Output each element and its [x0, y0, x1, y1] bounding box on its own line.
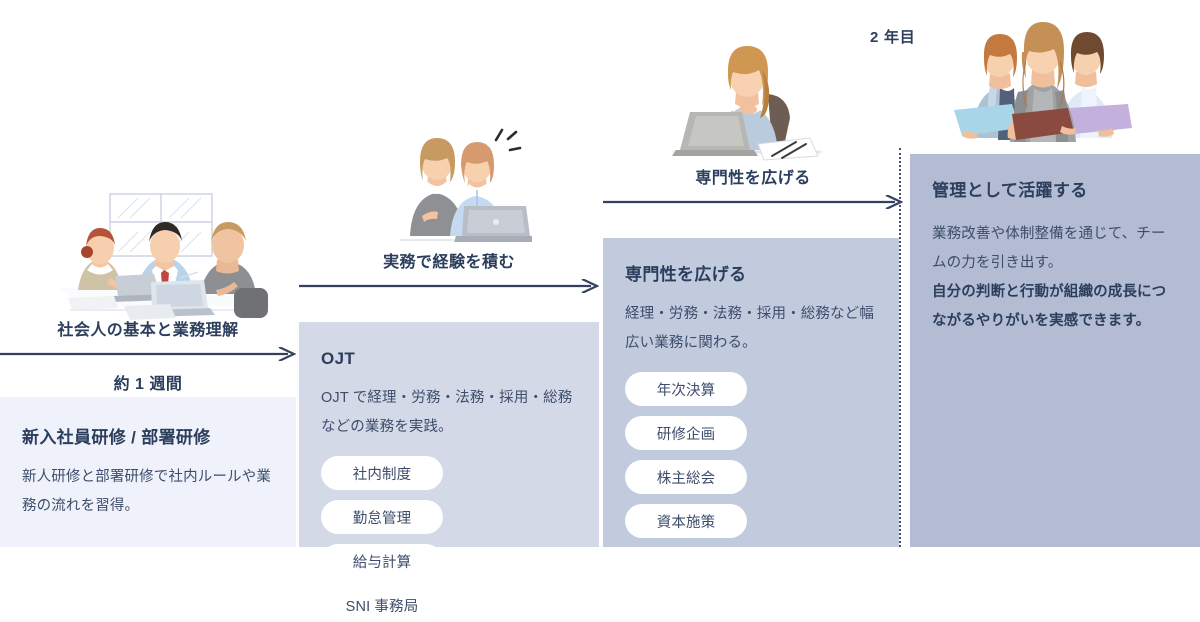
arrow-label-top: 実務で経験を積む — [299, 248, 599, 272]
stage-chip[interactable]: SNI 事務局 — [321, 588, 443, 622]
stage-chip[interactable]: 資本施策 — [625, 504, 747, 538]
illustration-pair — [392, 120, 532, 242]
stage-description: OJT で経理・労務・法務・採用・総務などの業務を実践。 — [321, 384, 577, 442]
stage-description: 経理・労務・法務・採用・総務など幅広い業務に関わる。 — [625, 300, 877, 358]
stage-chip[interactable]: 研修企画 — [625, 416, 747, 450]
stage-title: 管理として活躍する — [932, 180, 1178, 202]
stage-title: OJT — [321, 348, 577, 370]
stage-description: 業務改善や体制整備を通じて、チームの力を引き出す。 — [932, 220, 1178, 278]
career-path-diagram: 新入社員研修 / 部署研修 新人研修と部署研修で社内ルールや業務の流れを習得。 … — [0, 0, 1200, 547]
stage-chip[interactable]: 社内制度 — [321, 456, 443, 490]
stage-chip-list: 年次決算 研修企画 株主総会 資本施策 — [625, 372, 877, 538]
arrow-right-icon — [603, 195, 903, 209]
arrow-group-1: 社会人の基本と業務理解 約 1 週間 — [0, 347, 296, 361]
stage-panel-management: 管理として活躍する 業務改善や体制整備を通じて、チームの力を引き出す。 自分の判… — [910, 154, 1200, 547]
illustration-thinking — [672, 32, 822, 162]
stage-panel-onboarding: 新入社員研修 / 部署研修 新人研修と部署研修で社内ルールや業務の流れを習得。 — [0, 397, 296, 547]
illustration-meeting — [52, 190, 274, 322]
illustration-team — [952, 0, 1132, 142]
stage-panel-specialty: 専門性を広げる 経理・労務・法務・採用・総務など幅広い業務に関わる。 年次決算 … — [603, 238, 899, 547]
arrow-group-2: 実務で経験を積む — [299, 279, 599, 293]
stage-chip[interactable]: 勤怠管理 — [321, 500, 443, 534]
stage-panel-ojt: OJT OJT で経理・労務・法務・採用・総務などの業務を実践。 社内制度 勤怠… — [299, 322, 599, 547]
stage-chip-list: 社内制度 勤怠管理 給与計算 SNI 事務局 — [321, 456, 577, 622]
arrow-right-icon — [0, 347, 296, 361]
stage-chip[interactable]: 株主総会 — [625, 460, 747, 494]
stage-chip[interactable]: 年次決算 — [625, 372, 747, 406]
stage-description: 新人研修と部署研修で社内ルールや業務の流れを習得。 — [22, 463, 274, 521]
stage-title: 専門性を広げる — [625, 264, 877, 286]
stage-description-emphasis: 自分の判断と行動が組織の成長につながるやりがいを実感できます。 — [932, 278, 1178, 336]
stage-title: 新入社員研修 / 部署研修 — [22, 427, 274, 449]
arrow-group-3: 専門性を広げる — [603, 195, 903, 209]
year-marker: 2 年目 — [870, 26, 916, 47]
arrow-label-top: 専門性を広げる — [603, 164, 903, 188]
arrow-label-bottom: 約 1 週間 — [0, 370, 296, 394]
stage-chip[interactable]: 給与計算 — [321, 544, 443, 578]
arrow-right-icon — [299, 279, 599, 293]
